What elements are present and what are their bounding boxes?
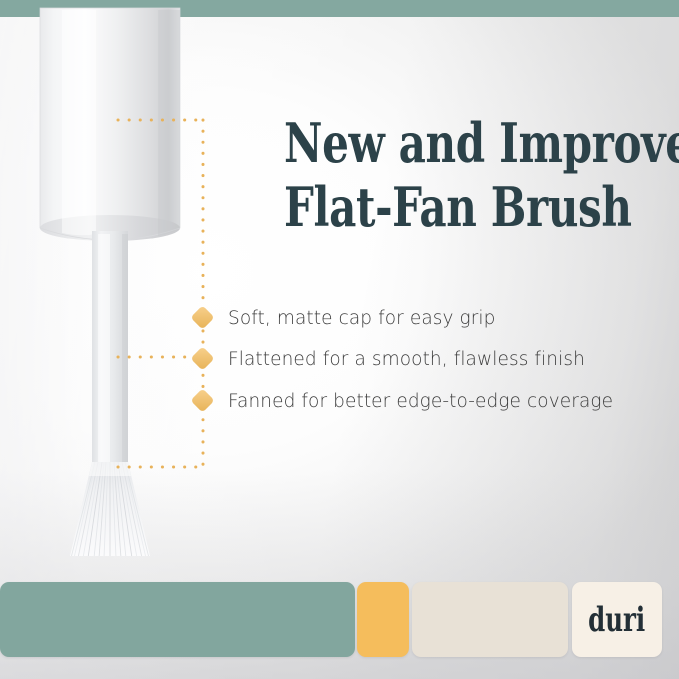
feature-item-label: Fanned for better edge-to-edge coverage xyxy=(228,391,613,412)
headline-line-2: Flat-Fan Brush xyxy=(284,176,580,238)
footer-segment-logo: duri xyxy=(572,582,662,657)
headline-line-1: New and Improved xyxy=(284,112,580,174)
brush-stem xyxy=(92,231,128,468)
feature-item-label: Soft, matte cap for easy grip xyxy=(228,308,496,329)
promo-graphic: New and Improved Flat-Fan Brush Soft, ma… xyxy=(0,0,679,679)
brush-illustration xyxy=(0,0,360,560)
cap-shape xyxy=(40,8,180,241)
footer-segment-beige xyxy=(412,582,568,657)
brand-logo: duri xyxy=(588,603,645,637)
brush-bristles xyxy=(68,462,152,558)
footer-color-bar: duri xyxy=(0,582,662,657)
footer-segment-teal xyxy=(0,582,355,657)
page-title: New and Improved Flat-Fan Brush xyxy=(284,112,580,238)
feature-item-label: Flattened for a smooth, flawless finish xyxy=(228,349,585,370)
footer-segment-amber xyxy=(357,582,409,657)
